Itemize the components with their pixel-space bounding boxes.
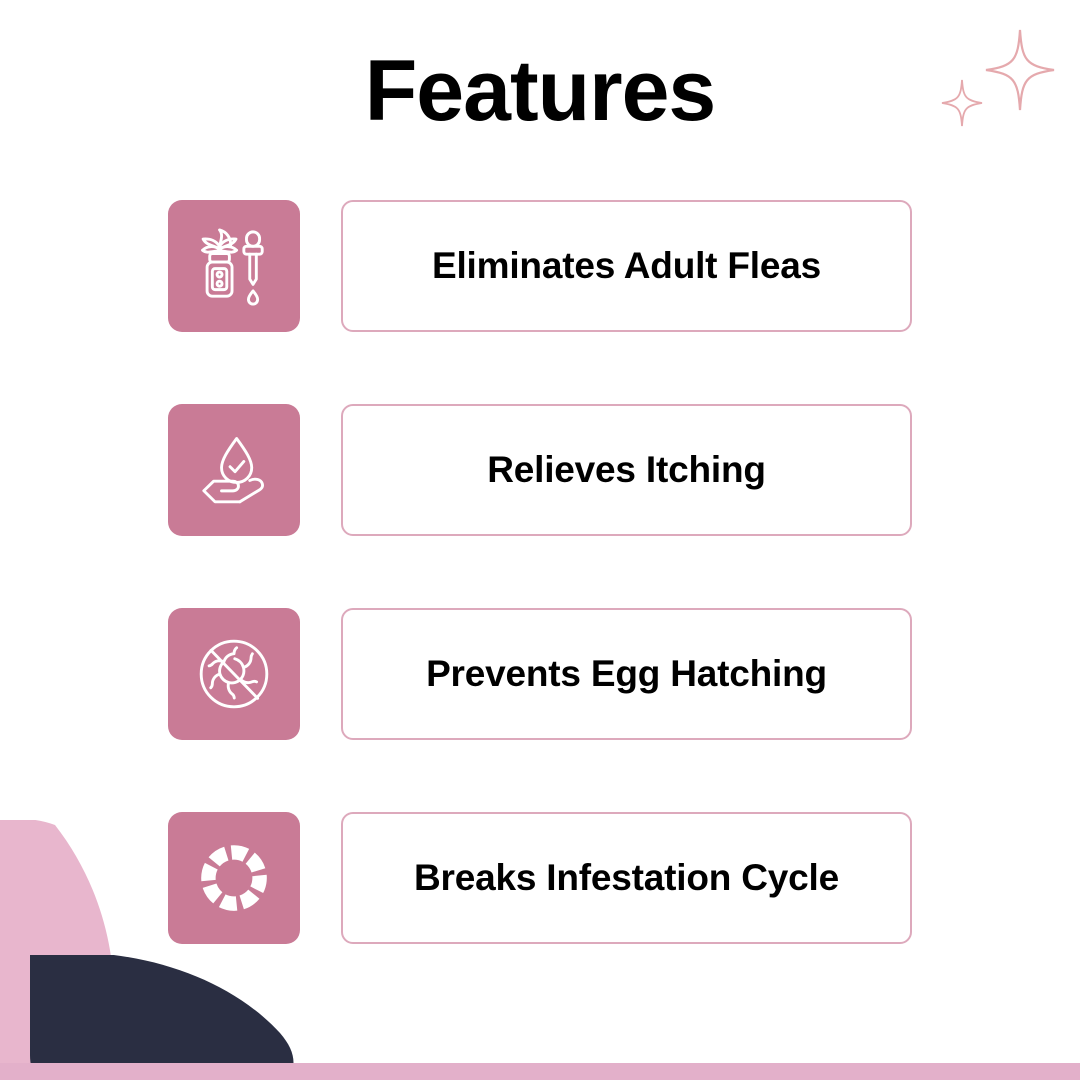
feature-icon-tile-1 bbox=[168, 200, 300, 332]
feature-icon-tile-3 bbox=[168, 608, 300, 740]
feature-label-box-4: Breaks Infestation Cycle bbox=[341, 812, 912, 944]
feature-label-box-1: Eliminates Adult Fleas bbox=[341, 200, 912, 332]
feature-label-box-3: Prevents Egg Hatching bbox=[341, 608, 912, 740]
feature-label-2: Relieves Itching bbox=[487, 449, 766, 491]
feature-list: Eliminates Adult Fleas bbox=[168, 200, 912, 944]
petal-pink-shape bbox=[0, 820, 180, 1080]
feature-row: Eliminates Adult Fleas bbox=[168, 200, 912, 332]
feature-row: Relieves Itching bbox=[168, 404, 912, 536]
hand-droplet-check-icon bbox=[192, 428, 276, 512]
bottom-accent-bar bbox=[0, 1063, 1080, 1080]
feature-label-box-2: Relieves Itching bbox=[341, 404, 912, 536]
features-slide: Features bbox=[0, 0, 1080, 1080]
feature-label-3: Prevents Egg Hatching bbox=[426, 653, 827, 695]
feature-row: Breaks Infestation Cycle bbox=[168, 812, 912, 944]
no-germ-icon bbox=[192, 632, 276, 716]
page-title: Features bbox=[0, 48, 1080, 134]
petal-navy-shape bbox=[30, 955, 330, 1080]
segmented-cycle-icon bbox=[192, 836, 276, 920]
feature-label-4: Breaks Infestation Cycle bbox=[414, 857, 839, 899]
feature-row: Prevents Egg Hatching bbox=[168, 608, 912, 740]
feature-icon-tile-2 bbox=[168, 404, 300, 536]
feature-icon-tile-4 bbox=[168, 812, 300, 944]
feature-label-1: Eliminates Adult Fleas bbox=[432, 245, 821, 287]
dropper-bottle-icon bbox=[192, 224, 276, 308]
